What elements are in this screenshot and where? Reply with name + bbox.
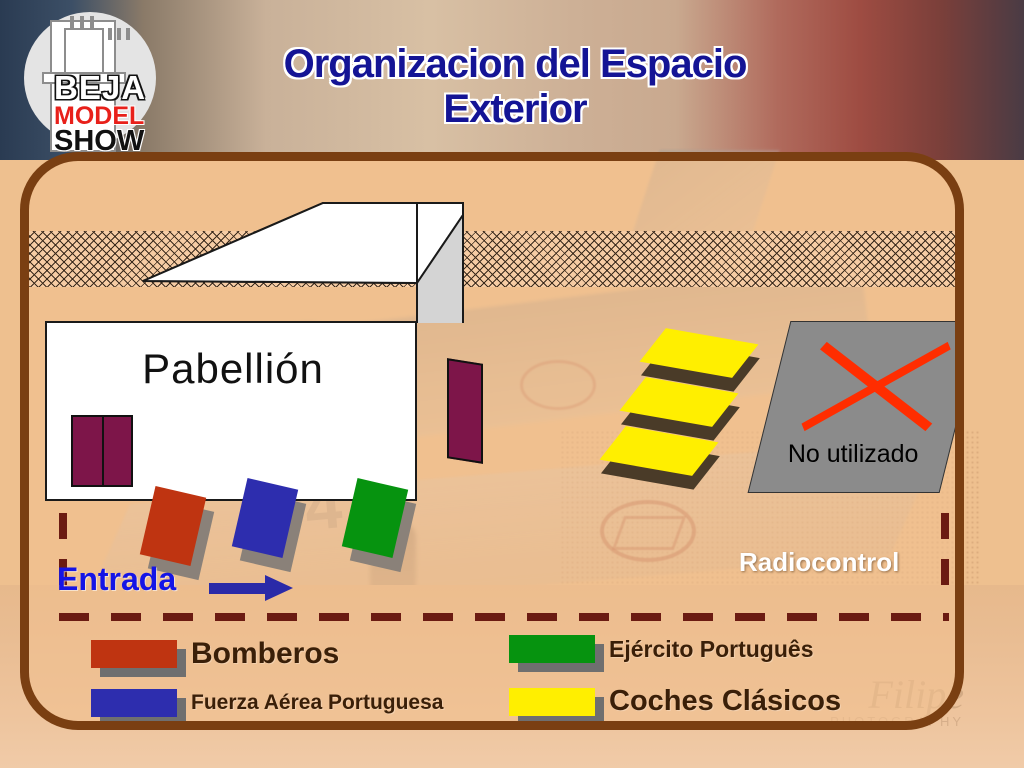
crenel-icon: [80, 16, 84, 28]
legend-swatch: [91, 689, 177, 717]
beja-model-show-logo: BEJA MODEL SHOW: [16, 6, 166, 161]
pavilion-main-double-door: [71, 415, 133, 487]
crenel-icon: [70, 16, 74, 28]
crenel-icon: [108, 28, 112, 40]
zone-no-utilizado[interactable]: No utilizado: [748, 321, 964, 493]
page-title: Organizacion del Espacio Exterior: [255, 42, 775, 132]
pavilion-building: Pabellión: [45, 201, 465, 501]
crenel-icon: [117, 28, 121, 40]
legend-label: Fuerza Aérea Portuguesa: [191, 691, 443, 715]
entrance-arrow-icon: [209, 579, 293, 597]
legend-swatch: [509, 635, 595, 663]
legend-item-fuerza-aerea: Fuerza Aérea Portuguesa: [91, 689, 443, 717]
zone-radiocontrol-label: Radiocontrol: [739, 547, 899, 578]
pavilion-roof-and-side: [45, 201, 465, 323]
legend-item-ejercito: Ejército Português: [509, 635, 813, 663]
crenel-icon: [90, 16, 94, 28]
entrance-label: Entrada: [57, 561, 176, 598]
venue-map-frame: Pabellión: [20, 152, 964, 730]
slide-canvas: 3/4 Filipe PHOTOGRAPHY BEJA MODEL SHOW O…: [0, 0, 1024, 768]
boundary-dashed-line: [59, 613, 949, 621]
legend: Bomberos Fuerza Aérea Portuguesa Ejércit…: [29, 633, 964, 730]
stand-marker-coches-clasicos[interactable]: [640, 328, 759, 378]
legend-label: Ejército Português: [609, 636, 813, 663]
legend-swatch: [91, 640, 177, 668]
legend-item-coches-clasicos: Coches Clásicos: [509, 685, 841, 718]
legend-label: Bomberos: [191, 637, 339, 671]
zone-no-utilizado-label: No utilizado: [758, 440, 948, 469]
cross-out-icon: [790, 336, 950, 432]
legend-swatch: [509, 688, 595, 716]
pavilion-side-door: [447, 358, 483, 464]
crenel-icon: [126, 28, 130, 40]
logo-line-beja: BEJA: [54, 72, 166, 104]
pavilion-label: Pabellión: [57, 345, 409, 393]
legend-item-bomberos: Bomberos: [91, 637, 339, 671]
logo-wordmark: BEJA MODEL SHOW: [54, 72, 166, 156]
boundary-dash-right: [941, 513, 949, 598]
legend-label: Coches Clásicos: [609, 685, 841, 718]
